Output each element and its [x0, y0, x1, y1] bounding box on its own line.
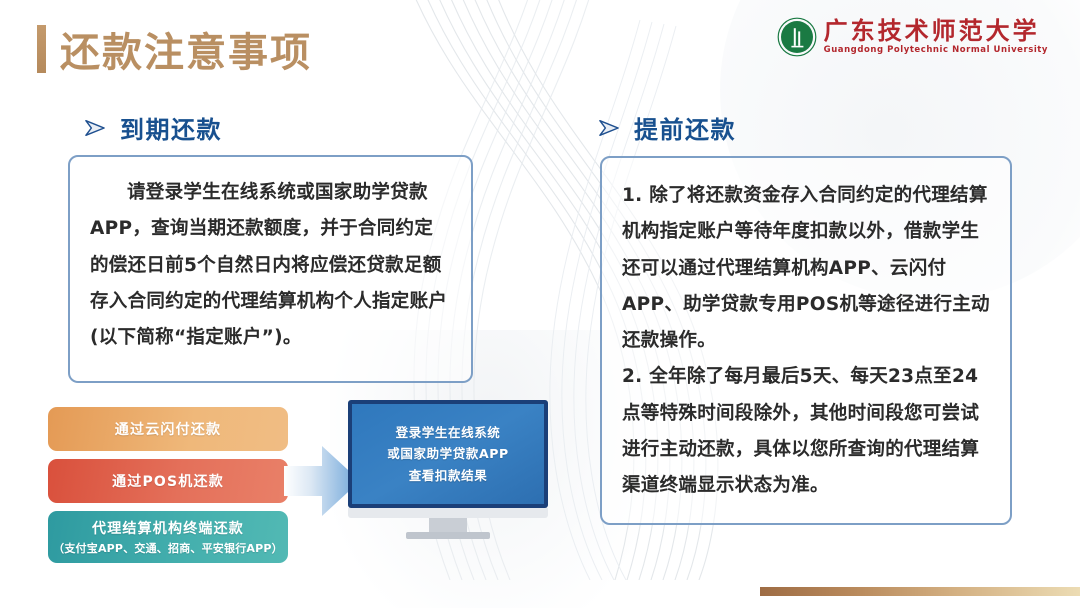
channel-bar-unionpay[interactable]: 通过云闪付还款 [48, 407, 288, 451]
paragraph: 1. 除了将还款资金存入合同约定的代理结算机构指定账户等待年度扣款以外，借款学生… [622, 178, 992, 359]
early-repayment-box: 1. 除了将还款资金存入合同约定的代理结算机构指定账户等待年度扣款以外，借款学生… [600, 156, 1012, 525]
arrow-bullet-icon [84, 118, 106, 138]
early-repayment-text: 1. 除了将还款资金存入合同约定的代理结算机构指定账户等待年度扣款以外，借款学生… [602, 158, 1010, 504]
monitor-base [406, 532, 490, 539]
screen-line: 或国家助学贷款APP [387, 443, 509, 465]
arrow-bullet-icon [598, 118, 620, 138]
screen-line: 查看扣款结果 [409, 465, 488, 487]
logo-chinese-name: 广东技术师范大学 [824, 19, 1040, 43]
desktop-monitor-icon: 登录学生在线系统 或国家助学贷款APP 查看扣款结果 [348, 400, 548, 539]
due-repayment-text: 请登录学生在线系统或国家助学贷款APP，查询当期还款额度，并于合同约定的偿还日前… [70, 157, 471, 356]
paragraph: 2. 全年除了每月最后5天、每天23点至24点等特殊时间段除外，其他时间段您可尝… [622, 359, 992, 504]
channel-bar-agent-terminal[interactable]: 代理结算机构终端还款 （支付宝APP、交通、招商、平安银行APP） [48, 511, 288, 563]
footer-gold-rule [760, 587, 1080, 596]
university-logo: 广东技术师范大学 Guangdong Polytechnic Normal Un… [777, 17, 1048, 57]
channel-label: 代理结算机构终端还款 [92, 518, 244, 538]
monitor-bezel: 登录学生在线系统 或国家助学贷款APP 查看扣款结果 [348, 400, 548, 508]
due-repayment-box: 请登录学生在线系统或国家助学贷款APP，查询当期还款额度，并于合同约定的偿还日前… [68, 155, 473, 383]
channel-bar-pos[interactable]: 通过POS机还款 [48, 459, 288, 503]
page-title: 还款注意事项 [60, 20, 312, 78]
title-accent-bar [37, 25, 46, 73]
paragraph: 请登录学生在线系统或国家助学贷款APP，查询当期还款额度，并于合同约定的偿还日前… [90, 175, 451, 356]
university-crest-icon [777, 17, 817, 57]
monitor-screen: 登录学生在线系统 或国家助学贷款APP 查看扣款结果 [352, 404, 544, 504]
repayment-channel-list: 通过云闪付还款 通过POS机还款 代理结算机构终端还款 （支付宝APP、交通、招… [48, 407, 288, 563]
section-title: 到期还款 [120, 110, 222, 145]
section-title: 提前还款 [634, 110, 736, 145]
monitor-neck [429, 518, 467, 532]
section-heading-due-repayment: 到期还款 [84, 110, 222, 145]
screen-line: 登录学生在线系统 [396, 422, 501, 444]
section-heading-early-repayment: 提前还款 [598, 110, 736, 145]
monitor-chin [348, 508, 548, 518]
channel-label: 通过POS机还款 [112, 471, 224, 491]
logo-english-name: Guangdong Polytechnic Normal University [824, 46, 1048, 55]
channel-label: 通过云闪付还款 [115, 419, 221, 439]
slide-root: 还款注意事项 广东技术师范大学 Guangdong Polytechnic No… [0, 0, 1080, 608]
channel-sublabel: （支付宝APP、交通、招商、平安银行APP） [53, 540, 283, 556]
